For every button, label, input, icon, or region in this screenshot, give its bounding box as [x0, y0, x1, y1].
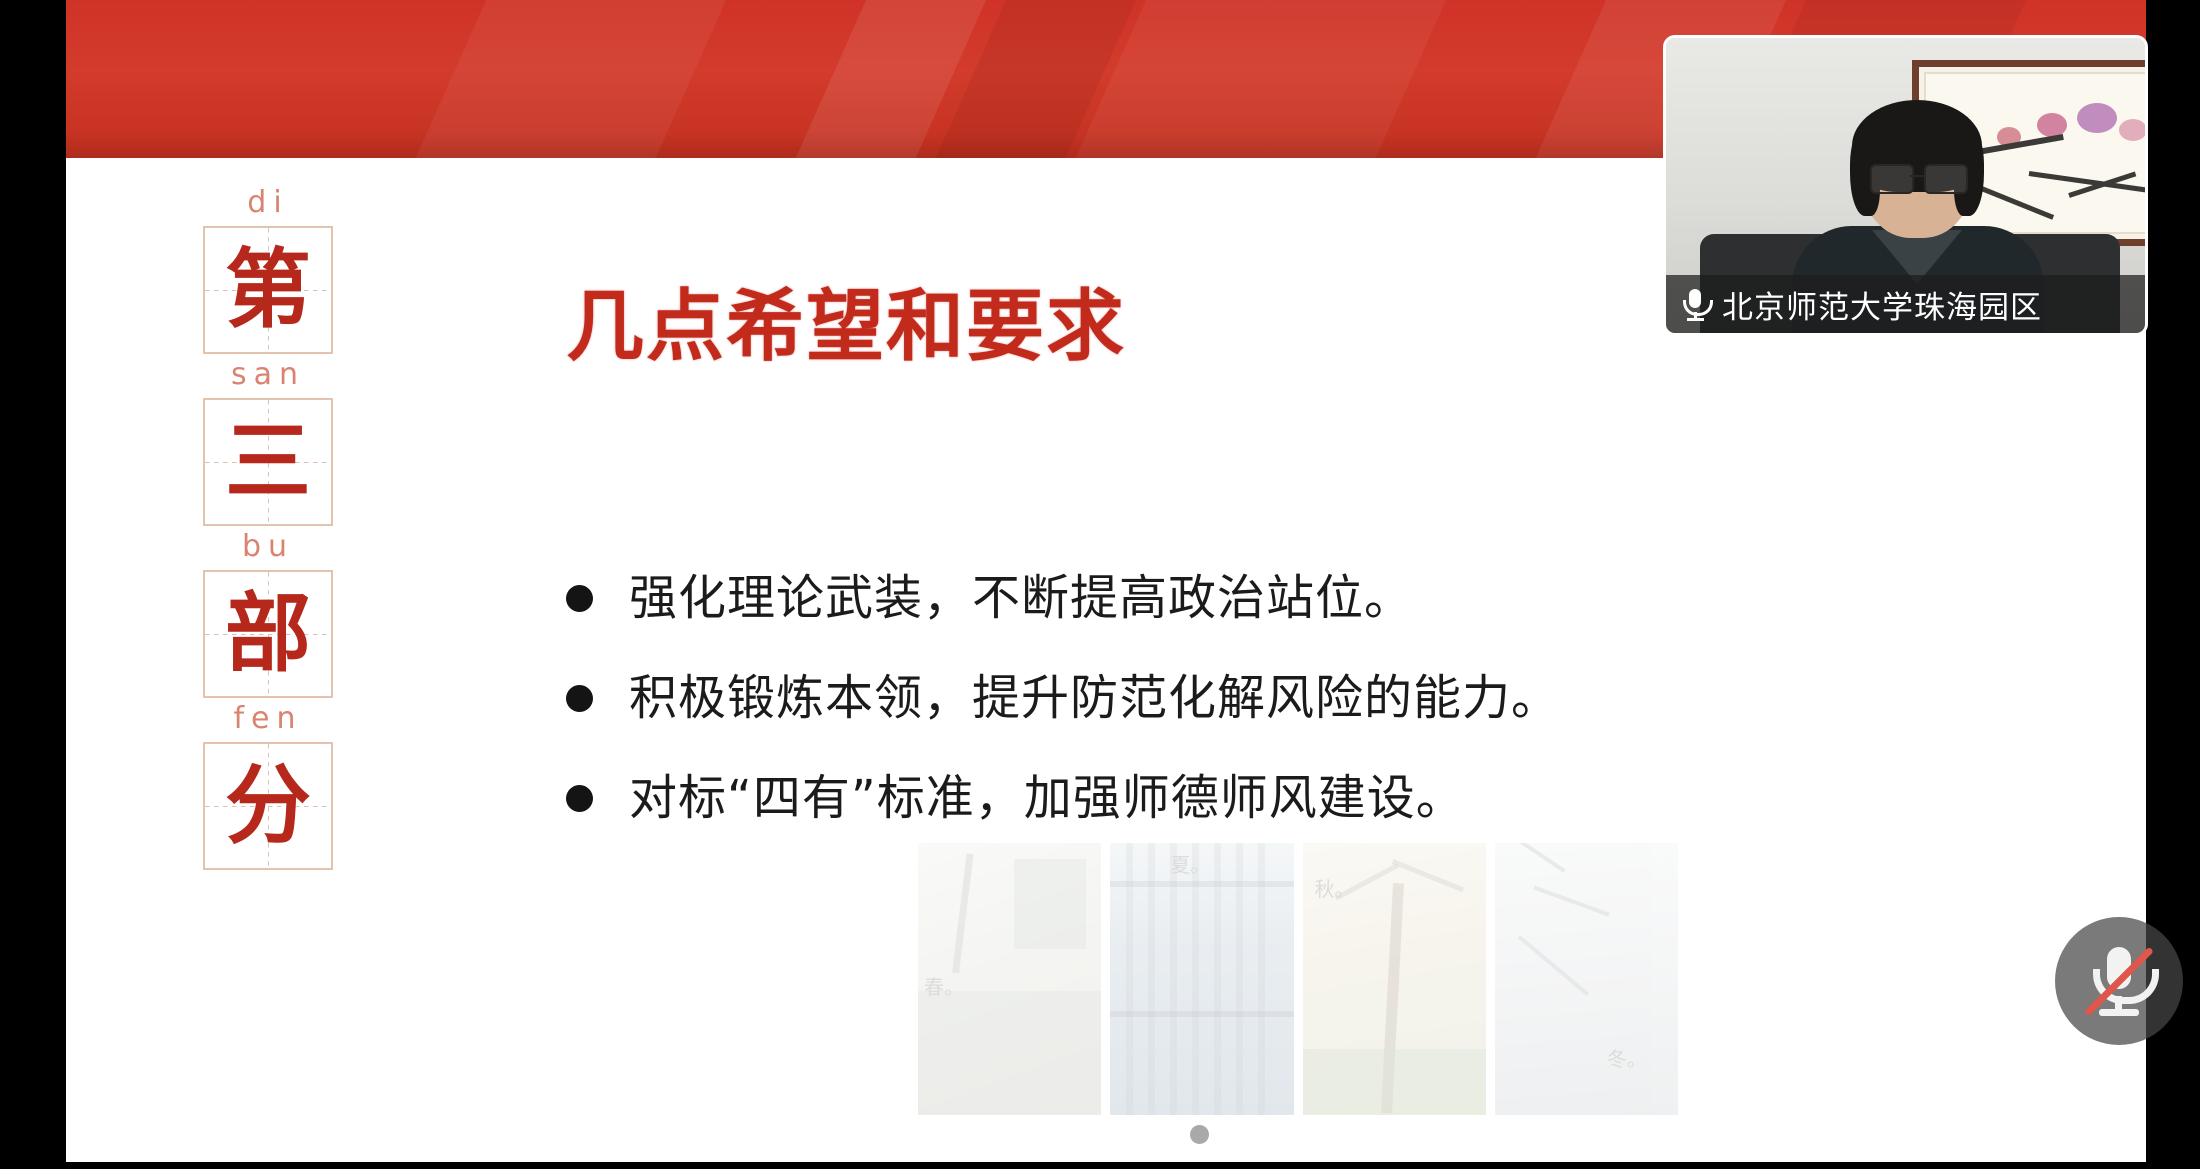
bullet-text: 积极锻炼本领，提升防范化解风险的能力。: [629, 672, 1560, 725]
character-glyph: 部: [205, 572, 331, 696]
bullet-text: 强化理论武装，不断提高政治站位。: [629, 572, 1413, 625]
photo-panel: 秋。: [1303, 843, 1486, 1115]
photo-detail: [1110, 1011, 1293, 1017]
participant-video-tile[interactable]: 北京师范大学珠海园区: [1663, 35, 2148, 336]
painting-detail: [2119, 119, 2147, 141]
character-glyph: 第: [205, 228, 331, 352]
mute-toggle-button[interactable]: [2055, 917, 2183, 1045]
letterbox-left: [0, 0, 66, 1169]
photo-detail: [1014, 859, 1086, 949]
photo-panel: 春。: [918, 843, 1101, 1115]
letterbox-bottom: [0, 1162, 2200, 1169]
painting-detail: [2077, 103, 2117, 133]
meeting-screen: di 第 san 三 bu 部 fen 分: [0, 0, 2200, 1169]
glasses-icon: [1910, 175, 1924, 177]
character-cell: 三: [203, 398, 333, 526]
character-cell: 分: [203, 742, 333, 870]
bullet-item: 强化理论武装，不断提高政治站位。: [566, 548, 1966, 648]
photo-detail: [918, 991, 1101, 1115]
season-label: 夏。: [1170, 849, 1210, 878]
section-marker-column: di 第 san 三 bu 部 fen 分: [168, 182, 368, 870]
bullet-dot-icon: [566, 785, 593, 812]
photo-detail: [1510, 843, 1565, 873]
participant-name-bar: 北京师范大学珠海园区: [1666, 275, 2145, 333]
bullet-dot-icon: [566, 585, 593, 612]
microphone-icon: [1678, 286, 1712, 322]
pinyin-label: san: [168, 354, 368, 398]
slide-title: 几点希望和要求: [566, 288, 1126, 366]
character-glyph: 分: [205, 744, 331, 868]
microphone-muted-icon: [2055, 917, 2183, 1045]
season-label: 秋。: [1315, 873, 1355, 902]
campus-photo-strip: 春。 夏。 秋。: [918, 843, 1678, 1115]
page-indicator-dot[interactable]: [1190, 1125, 1209, 1144]
pinyin-label: fen: [168, 698, 368, 742]
pinyin-label: di: [168, 182, 368, 226]
glasses-icon: [1870, 164, 1914, 194]
bullet-item: 对标“四有”标准，加强师德师风建设。: [566, 748, 1966, 848]
photo-detail: [1110, 881, 1293, 887]
bullet-item: 积极锻炼本领，提升防范化解风险的能力。: [566, 648, 1966, 748]
photo-detail: [1533, 886, 1610, 917]
letterbox-right-top: [2146, 0, 2200, 158]
photo-detail: [1303, 1049, 1486, 1115]
bullet-dot-icon: [566, 685, 593, 712]
photo-detail: [1517, 935, 1589, 996]
season-label: 冬。: [1607, 1043, 1647, 1072]
bullet-list: 强化理论武装，不断提高政治站位。 积极锻炼本领，提升防范化解风险的能力。 对标“…: [566, 548, 1966, 848]
bullet-text: 对标“四有”标准，加强师德师风建设。: [629, 772, 1465, 825]
glasses-icon: [1924, 164, 1968, 194]
photo-panel: 夏。: [1110, 843, 1293, 1115]
pinyin-label: bu: [168, 526, 368, 570]
participant-name: 北京师范大学珠海园区: [1722, 282, 2042, 327]
photo-panel: 冬。: [1495, 843, 1678, 1115]
character-cell: 部: [203, 570, 333, 698]
character-glyph: 三: [205, 400, 331, 524]
season-label: 春。: [924, 971, 964, 1000]
character-cell: 第: [203, 226, 333, 354]
photo-detail: [952, 853, 974, 973]
